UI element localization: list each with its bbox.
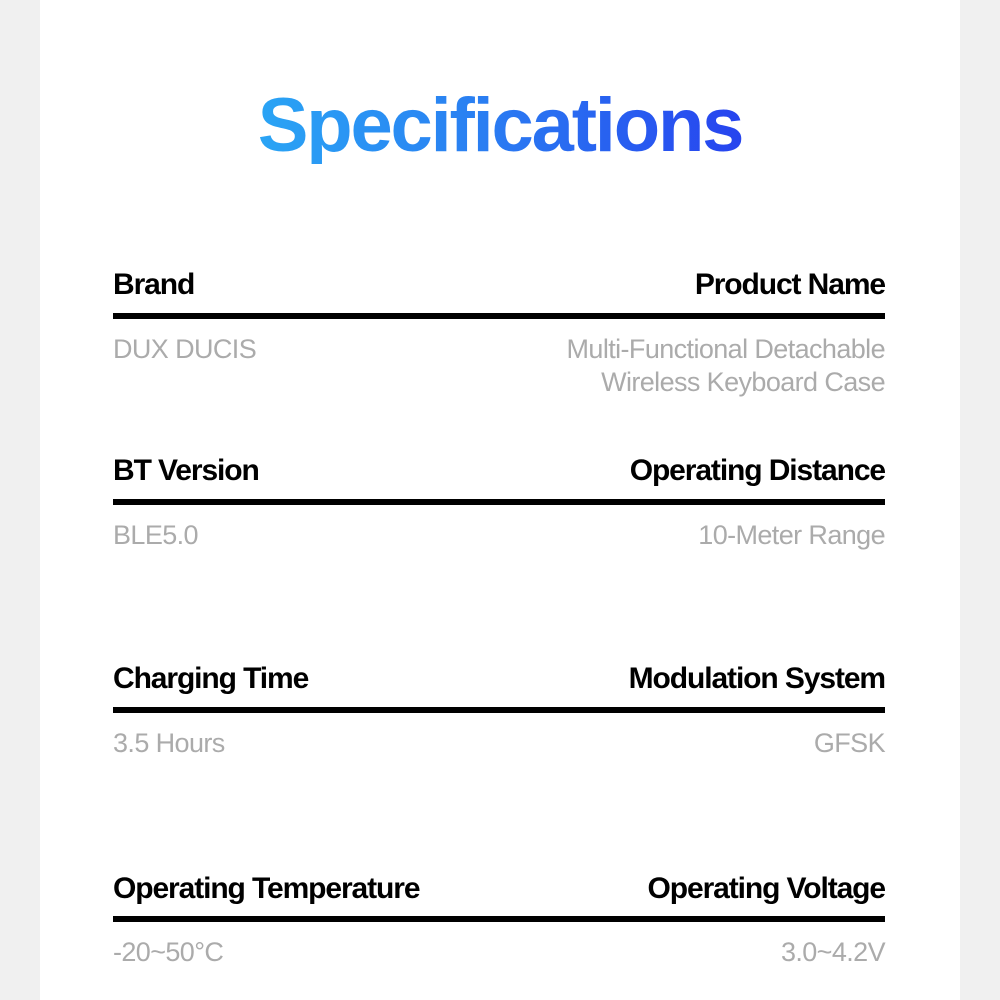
spec-label-left: Operating Temperature	[113, 872, 419, 906]
spec-value-line: 3.0~4.2V	[781, 936, 885, 969]
spec-label-left: Charging Time	[113, 662, 308, 696]
spec-value-left: DUX DUCIS	[113, 333, 256, 366]
specifications-table: Brand Product Name DUX DUCIS Multi-Funct…	[113, 268, 885, 969]
spec-value-right: 3.0~4.2V	[781, 936, 885, 969]
spec-row-values: BLE5.0 10-Meter Range	[113, 519, 885, 552]
spec-value-line: Multi-Functional Detachable	[567, 333, 885, 366]
spec-label-right: Modulation System	[629, 662, 885, 696]
spec-value-line: Wireless Keyboard Case	[567, 366, 885, 399]
spec-row-headers: BT Version Operating Distance	[113, 454, 885, 488]
spec-row-divider	[113, 499, 885, 505]
spec-row-headers: Operating Temperature Operating Voltage	[113, 872, 885, 906]
spec-value-right: 10-Meter Range	[698, 519, 885, 552]
spec-value-line: 3.5 Hours	[113, 727, 225, 760]
spec-value-left: 3.5 Hours	[113, 727, 225, 760]
spec-value-line: DUX DUCIS	[113, 333, 256, 366]
spec-value-left: -20~50°C	[113, 936, 223, 969]
spec-row-headers: Charging Time Modulation System	[113, 662, 885, 696]
spec-row: BT Version Operating Distance BLE5.0 10-…	[113, 454, 885, 552]
spec-value-line: -20~50°C	[113, 936, 223, 969]
spec-label-right: Product Name	[695, 268, 885, 302]
spec-row-divider	[113, 916, 885, 922]
spec-row-headers: Brand Product Name	[113, 268, 885, 302]
spec-value-line: GFSK	[814, 727, 885, 760]
spec-value-line: BLE5.0	[113, 519, 198, 552]
spec-value-right: GFSK	[814, 727, 885, 760]
spec-value-left: BLE5.0	[113, 519, 198, 552]
spec-row-values: DUX DUCIS Multi-Functional Detachable Wi…	[113, 333, 885, 399]
specification-sheet: Specifications Brand Product Name DUX DU…	[40, 0, 960, 1000]
spec-row: Operating Temperature Operating Voltage …	[113, 872, 885, 970]
spec-value-line: 10-Meter Range	[698, 519, 885, 552]
spec-label-left: Brand	[113, 268, 194, 302]
spec-label-left: BT Version	[113, 454, 259, 488]
spec-row-divider	[113, 707, 885, 713]
spec-row: Charging Time Modulation System 3.5 Hour…	[113, 662, 885, 760]
spec-row-values: -20~50°C 3.0~4.2V	[113, 936, 885, 969]
spec-row-divider	[113, 313, 885, 319]
spec-row: Brand Product Name DUX DUCIS Multi-Funct…	[113, 268, 885, 398]
page-title: Specifications	[40, 88, 960, 164]
spec-label-right: Operating Distance	[630, 454, 885, 488]
spec-row-values: 3.5 Hours GFSK	[113, 727, 885, 760]
spec-value-right: Multi-Functional Detachable Wireless Key…	[567, 333, 885, 399]
spec-label-right: Operating Voltage	[648, 872, 885, 906]
